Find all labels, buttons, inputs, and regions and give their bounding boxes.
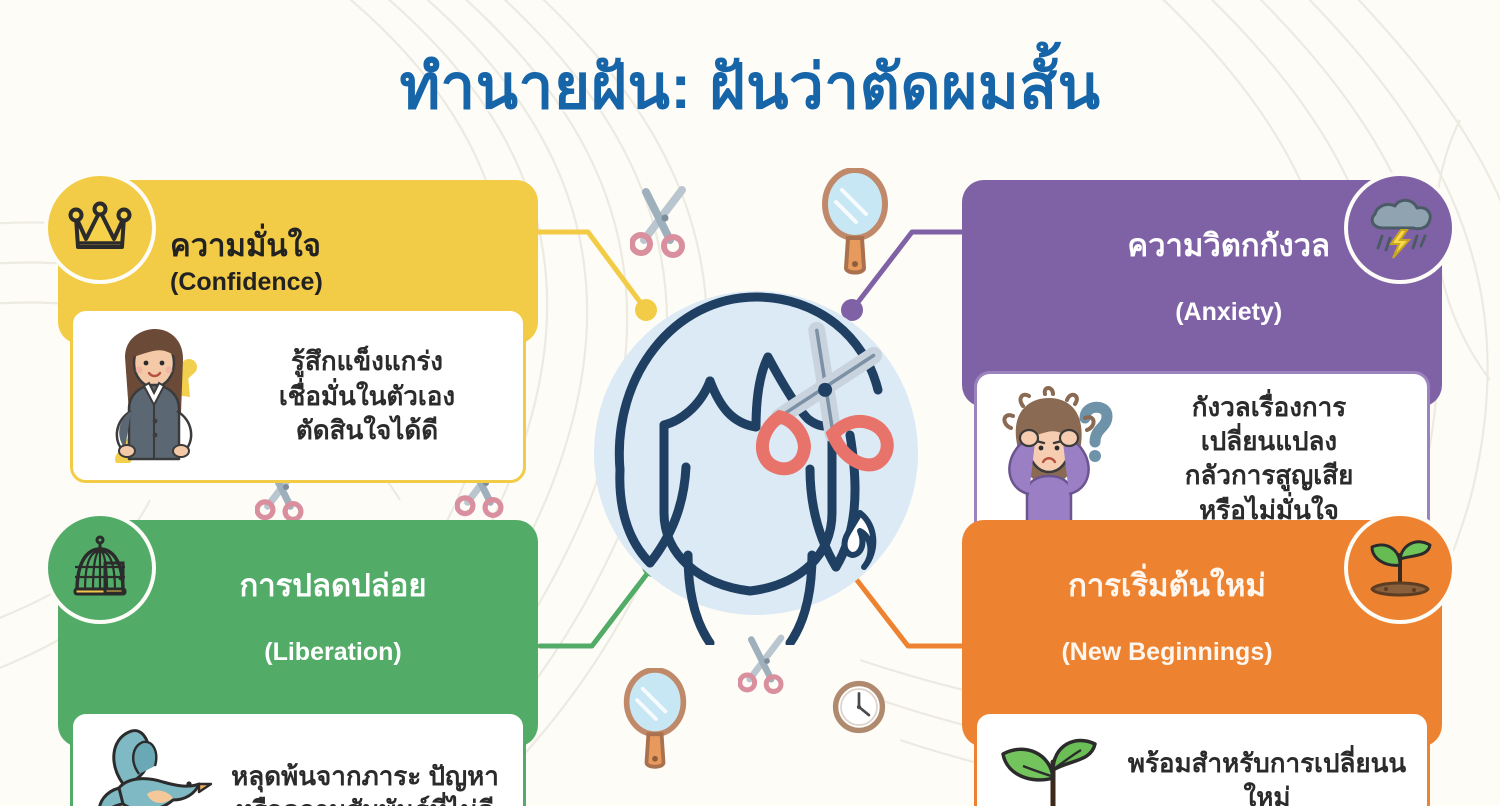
card-liberation-description: หลุดพ้นจากภาระ ปัญหา หรือความสัมพันธ์ที่…: [223, 759, 507, 806]
card-anxiety[interactable]: ความวิตกกังวล (Anxiety): [962, 180, 1442, 546]
card-new-beginnings-description: พร้อมสำหรับการเปลี่ยนนใหม่ โอกาสใหม่ๆ หร…: [1123, 746, 1411, 806]
clock-icon: [832, 680, 886, 734]
card-new-beginnings-title-en: (New Beginnings): [1004, 638, 1330, 666]
crown-icon: [44, 172, 156, 284]
card-confidence-title: ความมั่นใจ (Confidence): [170, 194, 323, 298]
card-liberation-title-th: การปลดปล่อย: [170, 569, 496, 604]
page-title: ทำนายฝัน: ฝันว่าตัดผมสั้น: [0, 38, 1500, 136]
card-new-beginnings[interactable]: การเริ่มต้นใหม่ (New Beginnings): [962, 520, 1442, 806]
stressed-woman-with-question-mark-icon: [993, 386, 1117, 531]
flying-bird-breaking-chains-icon: [89, 726, 213, 806]
card-confidence-description: รู้สึกแข็งแกร่ง เชื่อมั่นในตัวเอง ตัดสิน…: [227, 344, 507, 447]
card-new-beginnings-body: พร้อมสำหรับการเปลี่ยนนใหม่ โอกาสใหม่ๆ หร…: [974, 711, 1430, 806]
sprouting-seed-icon: [993, 726, 1113, 806]
card-confidence[interactable]: ความมั่นใจ (Confidence): [58, 180, 538, 483]
card-liberation-body: หลุดพ้นจากภาระ ปัญหา หรือความสัมพันธ์ที่…: [70, 711, 526, 806]
hand-mirror-icon: [620, 668, 690, 772]
card-new-beginnings-title: การเริ่มต้นใหม่ (New Beginnings): [984, 534, 1330, 701]
card-new-beginnings-title-th: การเริ่มต้นใหม่: [1004, 569, 1330, 604]
card-confidence-body: รู้สึกแข็งแกร่ง เชื่อมั่นในตัวเอง ตัดสิน…: [70, 308, 526, 483]
card-anxiety-description: กังวลเรื่องการเปลี่ยนแปลง กลัวการสูญเสีย…: [1127, 390, 1411, 527]
card-liberation-title: การปลดปล่อย (Liberation): [170, 534, 516, 701]
businesswoman-with-rising-arrow-icon: [89, 323, 217, 468]
card-anxiety-title: ความวิตกกังวล (Anxiety): [1127, 194, 1330, 361]
center-illustration: [560, 255, 960, 645]
card-liberation-title-en: (Liberation): [170, 638, 496, 666]
card-anxiety-title-en: (Anxiety): [1127, 298, 1330, 326]
birdcage-icon: [44, 512, 156, 624]
sprout-seedling-icon: [1344, 512, 1456, 624]
storm-cloud-lightning-icon: [1344, 172, 1456, 284]
card-anxiety-title-th: ความวิตกกังวล: [1127, 229, 1330, 264]
card-liberation[interactable]: การปลดปล่อย (Liberation): [58, 520, 538, 806]
scissors-icon: [630, 178, 700, 258]
card-confidence-title-en: (Confidence): [170, 268, 323, 296]
card-confidence-title-th: ความมั่นใจ: [170, 228, 321, 263]
